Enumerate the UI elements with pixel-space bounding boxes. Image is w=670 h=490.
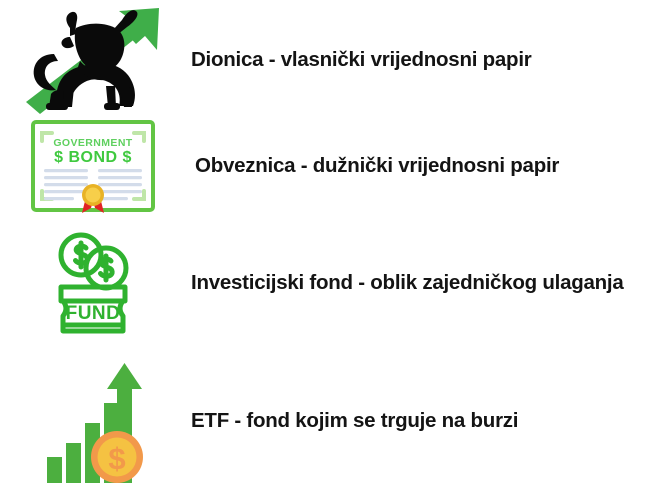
icon-cell-bond: GOVERNMENT $ BOND $: [0, 119, 185, 213]
icon-cell-etf: $: [0, 357, 185, 485]
list-item-etf: $ ETF - fond kojim se trguje na burzi: [0, 352, 670, 490]
icon-cell-stock: [0, 6, 185, 114]
list-item-stock: Dionica - vlasnički vrijednosni papir: [0, 0, 670, 120]
list-item-label-fund: Investicijski fond - oblik zajedničkog u…: [191, 272, 624, 295]
list-item-label-bond: Obveznica - dužnički vrijednosni papir: [195, 155, 559, 178]
growth-bars-arrow-coin-icon: $: [41, 357, 145, 485]
label-cell-etf: ETF - fond kojim se trguje na burzi: [185, 410, 670, 433]
label-cell-stock: Dionica - vlasnički vrijednosni papir: [185, 49, 670, 72]
jar-label: FUND: [65, 303, 120, 324]
infographic-sheet: Dionica - vlasnički vrijednosni papir: [0, 0, 670, 490]
government-bond-certificate-icon: GOVERNMENT $ BOND $: [30, 119, 156, 213]
list-item-label-stock: Dionica - vlasnički vrijednosni papir: [191, 49, 532, 72]
icon-cell-fund: FUND: [0, 227, 185, 339]
certificate-title-line2: $ BOND $: [54, 149, 132, 166]
dollar-coin-shape: $: [91, 431, 143, 483]
label-cell-fund: Investicijski fond - oblik zajedničkog u…: [185, 272, 670, 295]
list-item-label-etf: ETF - fond kojim se trguje na burzi: [191, 410, 518, 433]
fund-jar-with-coins-icon: FUND: [41, 227, 145, 339]
coin-dollar-symbol: $: [108, 441, 125, 476]
list-item-fund: FUND Investicijski fond - oblik zajednič…: [0, 218, 670, 348]
certificate-title-line1: GOVERNMENT: [53, 137, 132, 149]
bull-with-up-arrow-icon: [18, 6, 168, 114]
list-item-bond: GOVERNMENT $ BOND $: [0, 112, 670, 220]
label-cell-bond: Obveznica - dužnički vrijednosni papir: [185, 155, 670, 178]
